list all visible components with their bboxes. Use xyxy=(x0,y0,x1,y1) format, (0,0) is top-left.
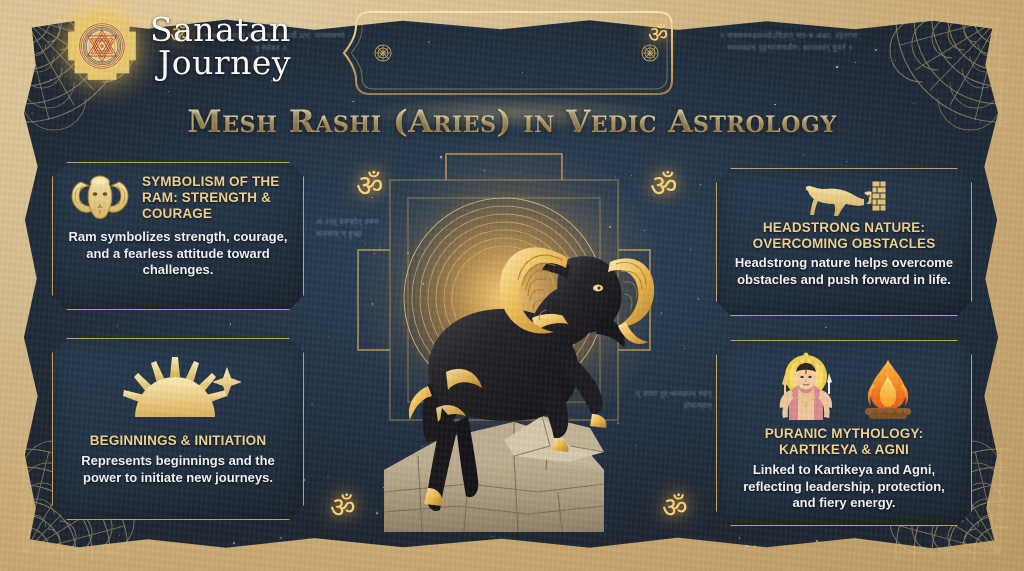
sanskrit-shloka-right: ॥ मास्तावरुहसम्जोऽविज्ञात् सठ-ब अक्ष्य: … xyxy=(706,30,874,53)
agni-flame-icon xyxy=(857,358,919,422)
star-speck xyxy=(996,501,997,502)
infographic-poster: Sanatan Journey ॥ श्रीवत्सु मन्यान् सान्… xyxy=(0,0,1024,571)
info-card-symbolism[interactable]: Symbolism of the Ram: Strength & Courage… xyxy=(52,162,304,310)
center-artwork: अाञ्ह बरुप्होत् उक्ना कलसाव् य् हुप्ह्ना… xyxy=(318,140,706,552)
ram-charging-brick-wall-icon xyxy=(802,177,886,217)
brand-line-2: Journey xyxy=(150,46,340,81)
rosette-medallion xyxy=(642,45,658,61)
info-card-puranic[interactable]: Puranic Mythology: Kartikeya & Agni Link… xyxy=(716,340,972,526)
card-body: Ram symbolizes strength, courage, and a … xyxy=(67,229,289,279)
brand-line-1: Sanatan xyxy=(150,13,340,47)
page-title: Mesh Rashi (Aries) in Vedic Astrology xyxy=(0,104,1024,140)
card-body: Headstrong nature helps overcome obstacl… xyxy=(731,255,957,288)
card-title: Headstrong Nature: Overcoming Obstacles xyxy=(731,220,957,252)
ram-head-icon xyxy=(67,172,133,224)
star-speck xyxy=(746,545,748,547)
sri-yantra-emblem xyxy=(66,10,138,82)
card-body: Linked to Kartikeya and Agni, reflecting… xyxy=(731,462,957,512)
brand-name: Sanatan Journey xyxy=(150,9,340,85)
kartikeya-deity-icon xyxy=(769,350,843,422)
sanskrit-snippet-right: प् जावर हुर् बाणप्नान्य ष्वान् होकत्म्हा… xyxy=(632,388,712,411)
info-card-beginnings[interactable]: Beginnings & Initiation Represents begin… xyxy=(52,338,304,520)
header-cartouche-frame xyxy=(340,8,688,98)
card-title: Beginnings & Initiation xyxy=(90,433,266,449)
sanskrit-snippet-left: अाञ्ह बरुप्होत् उक्ना कलसाव् य् हुप्ह्ना xyxy=(316,216,388,239)
rosette-medallion xyxy=(375,45,391,61)
rising-sun-icon xyxy=(115,355,241,429)
star-speck xyxy=(147,22,149,24)
info-card-headstrong[interactable]: Headstrong Nature: Overcoming Obstacles … xyxy=(716,168,972,316)
star-speck xyxy=(998,361,999,362)
stone-pedestal xyxy=(384,416,604,532)
card-title: Symbolism of the Ram: Strength & Courage xyxy=(142,174,289,223)
card-body: Represents beginnings and the power to i… xyxy=(67,453,289,486)
card-title: Puranic Mythology: Kartikeya & Agni xyxy=(731,426,957,458)
